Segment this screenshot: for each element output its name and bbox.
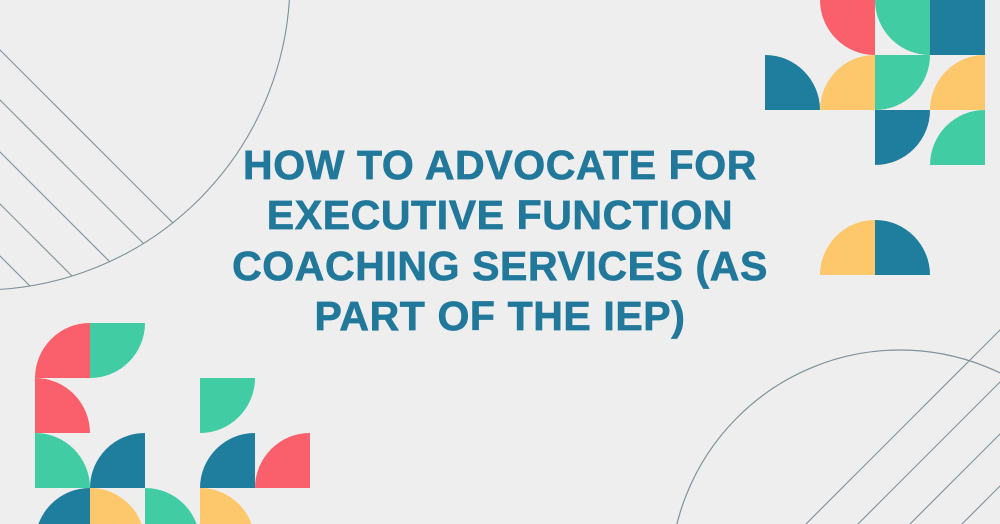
mosaic-tile	[200, 433, 255, 488]
mosaic-tile	[35, 323, 90, 378]
mosaic-tile	[875, 0, 930, 55]
mosaic-tile	[930, 55, 985, 110]
mosaic-tile	[200, 378, 255, 433]
mosaic-tile	[875, 55, 930, 110]
mosaic-tile	[765, 55, 820, 110]
mosaic-tile	[820, 220, 875, 275]
mosaic-tile	[930, 0, 985, 55]
mosaic-tile	[35, 433, 90, 488]
mosaic-tile	[820, 55, 875, 110]
mosaic-tile	[90, 488, 145, 524]
mosaic-tile	[930, 110, 985, 165]
mosaic-tile	[875, 110, 930, 165]
mosaic-tile	[90, 323, 145, 378]
mosaic-tile	[875, 220, 930, 275]
mosaic-tile	[820, 0, 875, 55]
mosaic-tile	[35, 378, 90, 433]
slide-canvas: HOW TO ADVOCATE FOR EXECUTIVE FUNCTION C…	[0, 0, 1000, 524]
mosaic-tile	[90, 433, 145, 488]
page-title: HOW TO ADVOCATE FOR EXECUTIVE FUNCTION C…	[190, 140, 810, 342]
bottom-left-mosaic	[35, 323, 365, 524]
bottom-right-circle-outline	[670, 350, 1000, 524]
mosaic-tile	[145, 488, 200, 524]
mosaic-tile	[200, 488, 255, 524]
mosaic-tile	[255, 433, 310, 488]
mosaic-tile	[35, 488, 90, 524]
